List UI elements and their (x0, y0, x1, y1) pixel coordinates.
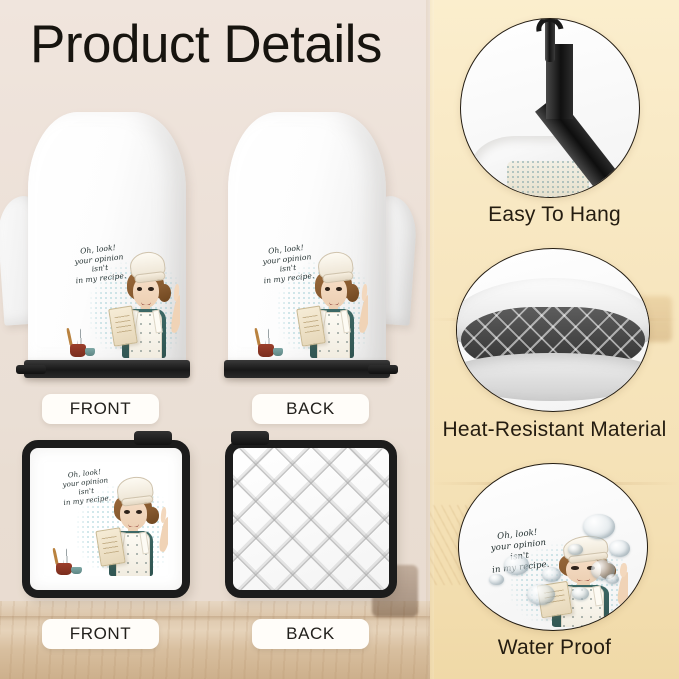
feature-photo (460, 18, 640, 198)
water-droplet (572, 587, 589, 600)
label-holder-front: FRONT (42, 619, 159, 649)
water-droplet (609, 540, 630, 557)
left-panel: Product Details Oh, look! your opinion i… (0, 0, 430, 679)
label-mitt-front: FRONT (42, 394, 159, 424)
feature-heat-resistant (456, 248, 648, 410)
feature-photo: Oh, look! your opinion isn't in my recip… (458, 463, 648, 631)
feature-photo (456, 248, 650, 412)
print-detail (507, 161, 589, 198)
panel-divider (426, 0, 434, 679)
page-title: Product Details (30, 16, 382, 73)
water-droplet (527, 584, 555, 606)
retro-woman-illustration (301, 252, 367, 358)
water-droplet (606, 574, 619, 584)
feature-caption-water-proof: Water Proof (430, 636, 679, 660)
oven-mitt-back: Oh, look! your opinion isn't in my recip… (228, 112, 386, 374)
water-droplet (504, 555, 528, 575)
pot-holder-back (225, 440, 397, 598)
feature-water-proof: Oh, look! your opinion isn't in my recip… (458, 463, 646, 629)
utensils-illustration (252, 326, 283, 357)
mitt-front-artwork: Oh, look! your opinion isn't in my recip… (62, 238, 180, 358)
holder-hanging-tab (231, 431, 269, 445)
retro-woman-illustration (100, 477, 167, 576)
oven-mitt-front: Oh, look! your opinion isn't in my recip… (28, 112, 186, 374)
quilted-texture (233, 448, 389, 590)
retro-woman-illustration (113, 252, 179, 358)
label-mitt-back: BACK (252, 394, 369, 424)
product-details-infographic: Product Details Oh, look! your opinion i… (0, 0, 679, 679)
water-droplet (583, 514, 615, 539)
mitt-cuff (224, 360, 390, 378)
feature-caption-easy-to-hang: Easy To Hang (430, 203, 679, 227)
mitt-hanging-loop (368, 365, 398, 374)
holder-hanging-tab (134, 431, 172, 445)
feature-easy-to-hang (460, 18, 638, 196)
water-droplet (542, 567, 561, 582)
hook-icon (545, 18, 555, 62)
water-droplet (489, 574, 504, 586)
pot-holder-front: Oh, look! your opinion isn't in my recip… (22, 440, 190, 598)
utensils-illustration (50, 546, 81, 575)
mitt-back-artwork: Oh, look! your opinion isn't in my recip… (250, 238, 368, 358)
feature-caption-heat-resistant: Heat-Resistant Material (430, 418, 679, 442)
holder-front-artwork: Oh, look! your opinion isn't in my recip… (48, 464, 168, 576)
outer-shell (456, 353, 650, 402)
mitt-cuff (24, 360, 190, 378)
mitt-hanging-loop (16, 365, 46, 374)
right-panel: Easy To Hang Heat-Resistant Material Oh,… (430, 0, 679, 679)
utensils-illustration (64, 326, 95, 357)
label-holder-back: BACK (252, 619, 369, 649)
